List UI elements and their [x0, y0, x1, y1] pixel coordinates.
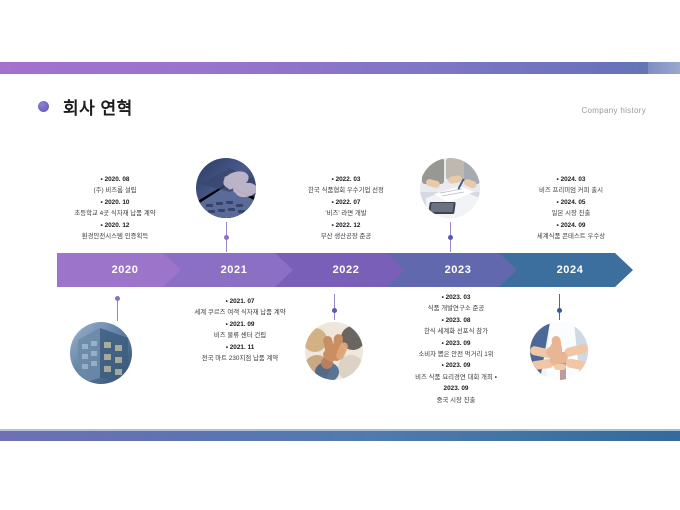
event-date: ▪ 2023. 09 [368, 338, 544, 349]
timeline-year-label: 2022 [333, 264, 360, 276]
event-date: ▪ 2022. 12 [258, 220, 434, 231]
event-description: 비즈 물류 센터 건립 [152, 330, 328, 341]
connector-dot-2022 [332, 308, 337, 313]
event-date: ▪ 2020. 10 [40, 197, 190, 208]
event-description: '비즈' 라면 개발 [258, 208, 434, 219]
timeline-year-label: 2021 [221, 264, 248, 276]
event-date: ▪ 2020. 08 [40, 174, 190, 185]
timeline-year-2022[interactable]: 2022 [275, 253, 409, 287]
page-subtitle: Company history [581, 106, 646, 115]
event-group-2021: ▪ 2021. 07세계 쿠르즈 여객 식자재 납품 계약▪ 2021. 09비… [152, 296, 328, 364]
event-date: ▪ 2023. 03 [368, 292, 544, 303]
page-header: 회사 연혁 [38, 94, 133, 119]
timeline-year-label: 2024 [557, 264, 584, 276]
event-description: 중국 시장 진출 [368, 395, 544, 406]
event-description: 환경안전시스템 인증획득 [40, 231, 190, 242]
timeline-chevron-row: 2020 2021 2022 2023 2024 [57, 253, 627, 287]
event-description: 초등학교 4곳 식자재 납품 계약 [40, 208, 190, 219]
handshake-photo [530, 322, 588, 380]
event-group-2020: ▪ 2020. 08(주) 비즈롬 설립▪ 2020. 10초등학교 4곳 식자… [40, 174, 190, 242]
event-description: 소비자 뽑은 안전 먹거리 1위 [368, 349, 544, 360]
event-description: 한식 세계화 선포식 참가 [368, 326, 544, 337]
event-group-2022: ▪ 2022. 03한국 식품협회 우수기업 선정▪ 2022. 07'비즈' … [258, 174, 434, 242]
top-accent-bar-cap [648, 62, 680, 74]
bottom-accent-bar [0, 431, 680, 441]
event-group-2023: ▪ 2023. 03식품 개발연구소 준공▪ 2023. 08한식 세계화 선포… [368, 292, 544, 406]
circle-bullet-icon [38, 101, 49, 112]
business-meeting-photo [420, 158, 480, 218]
event-date: ▪ 2022. 07 [258, 197, 434, 208]
connector-stem-2024 [559, 294, 560, 320]
event-description: 일본 시장 진출 [483, 208, 659, 219]
event-description: 한국 식품협회 우수기업 선정 [258, 185, 434, 196]
event-date: ▪ 2024. 09 [483, 220, 659, 231]
event-date: ▪ 2021. 11 [152, 342, 328, 353]
event-description: 세계식품 콘테스트 우수상 [483, 231, 659, 242]
laptop-typing-photo [196, 158, 256, 218]
event-date: ▪ 2023. 08 [368, 315, 544, 326]
connector-stem-2022 [334, 294, 335, 320]
event-description: 비즈 프리미엄 커피 출시 [483, 185, 659, 196]
timeline-year-2020[interactable]: 2020 [57, 253, 185, 287]
team-hands-photo [305, 322, 363, 380]
event-description: 부산 생산공장 준공 [258, 231, 434, 242]
timeline-year-2021[interactable]: 2021 [163, 253, 297, 287]
connector-dot-2023 [448, 235, 453, 240]
connector-dot-2021 [224, 235, 229, 240]
office-building-photo [70, 322, 132, 384]
page-title: 회사 연혁 [63, 94, 133, 119]
event-date: ▪ 2023. 09 [368, 360, 544, 371]
connector-dot-2024 [557, 308, 562, 313]
connector-stem-2020 [117, 299, 118, 321]
event-date: ▪ 2020. 12 [40, 220, 190, 231]
event-description: 비즈 식품 요리경연 대회 개최 ▪ [368, 372, 544, 383]
event-group-2024: ▪ 2024. 03비즈 프리미엄 커피 출시▪ 2024. 05일본 시장 진… [483, 174, 659, 242]
connector-dot-2020 [115, 296, 120, 301]
event-description: (주) 비즈롬 설립 [40, 185, 190, 196]
event-date: ▪ 2024. 03 [483, 174, 659, 185]
slide-canvas: 회사 연혁 Company history 2020 2021 2022 202… [0, 0, 680, 510]
top-accent-bar [0, 62, 680, 74]
event-date: 2023. 09 [368, 383, 544, 394]
event-date: ▪ 2021. 07 [152, 296, 328, 307]
event-description: 식품 개발연구소 준공 [368, 303, 544, 314]
event-date: ▪ 2024. 05 [483, 197, 659, 208]
event-date: ▪ 2021. 09 [152, 319, 328, 330]
timeline-year-2024[interactable]: 2024 [499, 253, 633, 287]
event-description: 세계 쿠르즈 여객 식자재 납품 계약 [152, 307, 328, 318]
event-date: ▪ 2022. 03 [258, 174, 434, 185]
timeline-year-label: 2023 [445, 264, 472, 276]
event-description: 전국 마트 230지점 납품 계약 [152, 353, 328, 364]
timeline-year-label: 2020 [112, 264, 139, 276]
timeline-year-2023[interactable]: 2023 [387, 253, 521, 287]
